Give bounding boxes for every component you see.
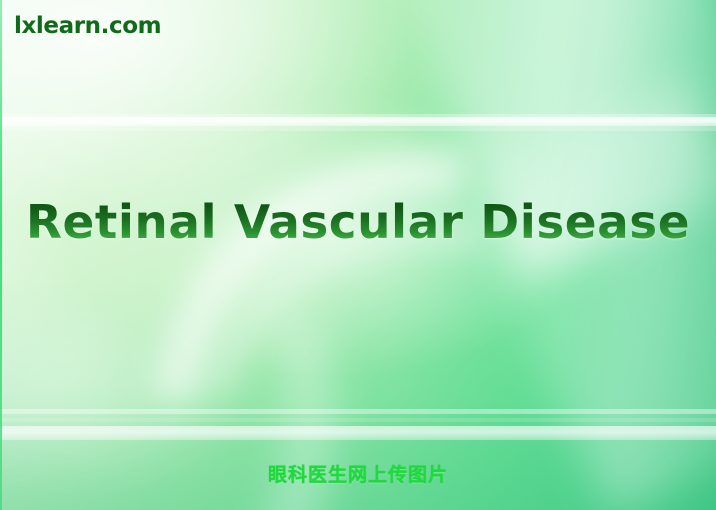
light-band-lower-thin xyxy=(0,409,716,414)
background-highlight-top-left xyxy=(0,0,716,510)
left-edge-accent-line xyxy=(0,0,2,510)
light-band-upper-main xyxy=(0,117,716,126)
light-ribbon-primary-arc xyxy=(37,37,716,510)
background-base-gradient xyxy=(0,0,716,510)
page-title: Retinal Vascular Disease xyxy=(0,196,716,248)
light-band-upper-thin xyxy=(0,114,716,117)
bottom-caption: 眼科医生网上传图片 xyxy=(0,460,716,487)
light-ribbon-right-streak xyxy=(454,81,716,510)
light-ribbon-secondary-arc xyxy=(115,134,716,510)
background-highlight-center xyxy=(0,0,716,510)
site-watermark: lxlearn.com xyxy=(14,13,161,39)
light-band-lower-main xyxy=(0,426,716,440)
background-right-wash xyxy=(0,0,716,510)
light-band-lower-gap xyxy=(0,418,716,422)
background-bottom-wash xyxy=(0,0,716,510)
light-band-upper-fade xyxy=(0,126,716,131)
title-slide: lxlearn.com Retinal Vascular Disease 眼科医… xyxy=(0,0,716,510)
